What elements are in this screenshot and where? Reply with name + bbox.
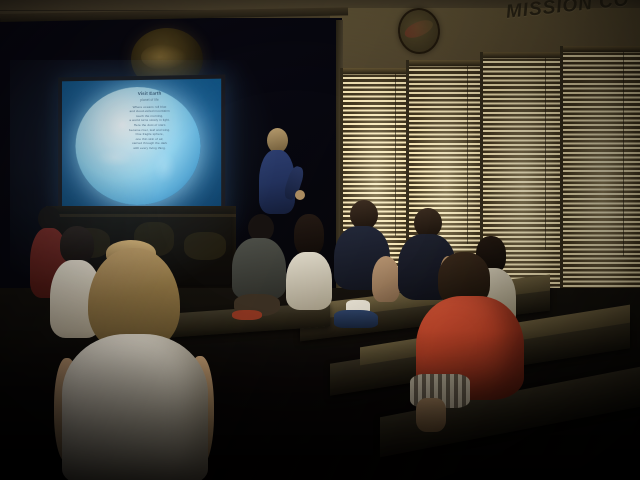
blind-headrail-2[interactable] [409,60,483,66]
boy-grey-shirt [232,214,288,320]
sneaker [334,310,378,328]
torso [232,238,286,300]
window-panel-4 [560,46,640,308]
blind-cord-4[interactable] [623,52,624,256]
leg [416,398,446,432]
slide-title: Visit Earth [115,90,185,97]
blind-headrail-1[interactable] [343,68,409,74]
torso [286,252,332,310]
projection-screen[interactable]: Visit Earth planet of life Where oceans … [58,74,225,219]
presenter-hand [295,190,305,200]
torso [62,334,208,480]
slide-text-block: Visit Earth planet of life Where oceans … [115,90,185,151]
slide-subtitle: planet of life [115,97,185,102]
blind-headrail-3[interactable] [483,52,563,58]
slide-line: with every living thing. [115,146,185,151]
boy-orange-shirt [410,252,538,432]
scene-root: MISSION CO [0,0,640,480]
blind-cord-3[interactable] [545,58,546,250]
head [294,214,324,256]
blind-cord-2[interactable] [467,66,468,244]
sandal [232,310,262,320]
screen-surface: Visit Earth planet of life Where oceans … [62,79,221,216]
boy-dark-shirt-sneakers [328,200,398,332]
woman-foreground-white-shirt [40,248,220,480]
girl-white-tee-center [284,214,334,322]
blind-headrail-4[interactable] [563,46,640,52]
